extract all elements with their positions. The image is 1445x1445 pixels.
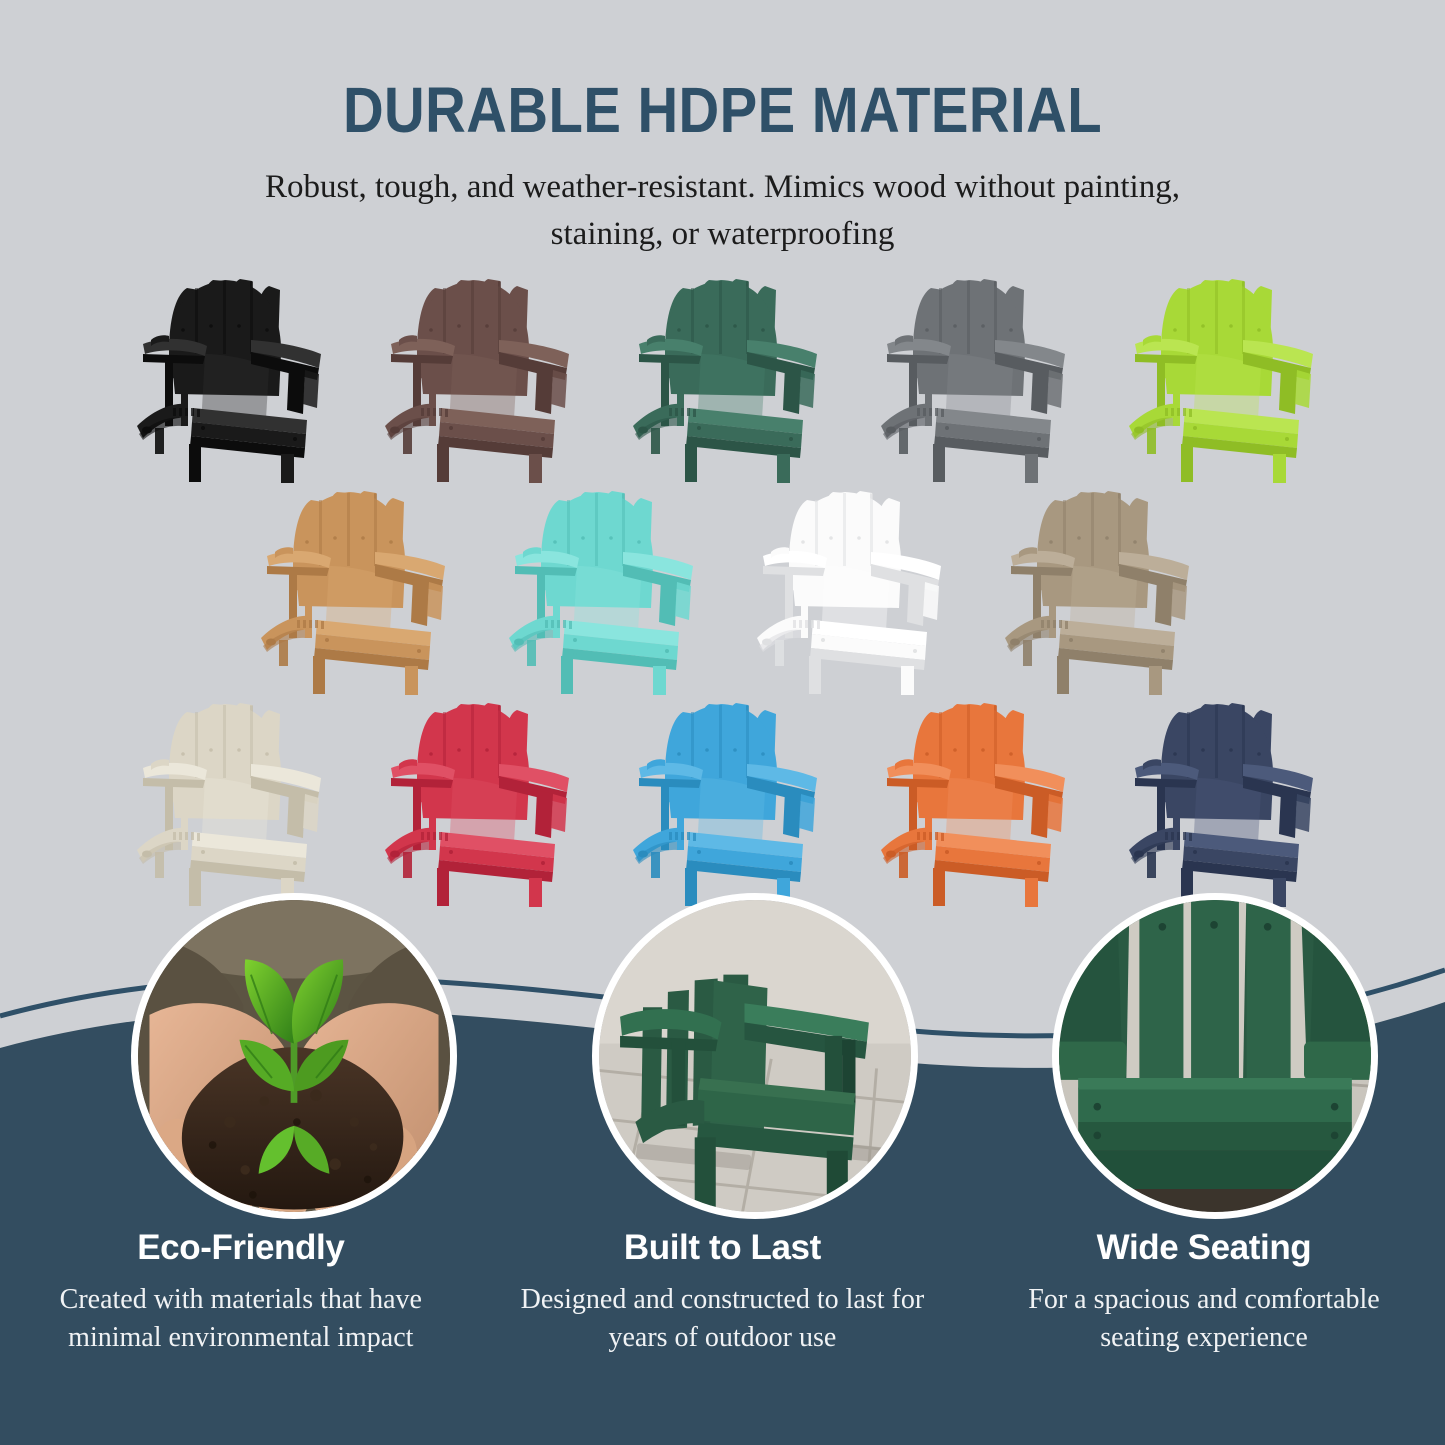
feature-title: Eco-Friendly [26, 1228, 456, 1268]
chair-swatch-brown[interactable] [377, 268, 573, 483]
chair-color-grid [0, 268, 1445, 918]
feature-title: Built to Last [508, 1228, 938, 1268]
feature-title: Wide Seating [989, 1228, 1419, 1268]
chair-swatch-gray[interactable] [873, 268, 1069, 483]
chair-swatch-weathered-wood[interactable] [997, 480, 1193, 695]
feature-description: For a spacious and comfortable seating e… [989, 1281, 1419, 1356]
chair-swatch-black[interactable] [129, 268, 325, 483]
chair-swatch-lime-green[interactable] [1121, 268, 1317, 483]
chair-swatch-turquoise[interactable] [501, 480, 697, 695]
feature-description: Designed and constructed to last for yea… [508, 1281, 938, 1356]
circle-photo-eco-friendly [131, 893, 457, 1219]
chair-swatch-white[interactable] [749, 480, 945, 695]
feature-built-to-last: Built to Last Designed and constructed t… [482, 1228, 964, 1356]
chair-row-3 [0, 692, 1445, 907]
feature-description: Created with materials that have minimal… [26, 1281, 456, 1356]
feature-wide-seating: Wide Seating For a spacious and comforta… [963, 1228, 1445, 1356]
chair-swatch-ivory[interactable] [129, 692, 325, 907]
chair-swatch-teak[interactable] [253, 480, 449, 695]
feature-text-row: Eco-Friendly Created with materials that… [0, 1228, 1445, 1356]
chair-row-2 [0, 480, 1445, 695]
circle-photo-wide-seating [1052, 893, 1378, 1219]
chair-row-1 [0, 268, 1445, 483]
header-section: DURABLE HDPE MATERIAL Robust, tough, and… [0, 0, 1445, 258]
chair-swatch-orange[interactable] [873, 692, 1069, 907]
feature-circles [0, 893, 1445, 1223]
feature-eco-friendly: Eco-Friendly Created with materials that… [0, 1228, 482, 1356]
chair-swatch-sky-blue[interactable] [625, 692, 821, 907]
chair-swatch-navy-blue[interactable] [1121, 692, 1317, 907]
chair-swatch-dark-green[interactable] [625, 268, 821, 483]
page-subtitle: Robust, tough, and weather-resistant. Mi… [0, 164, 1445, 258]
chair-swatch-red[interactable] [377, 692, 573, 907]
page-title: DURABLE HDPE MATERIAL [87, 78, 1359, 142]
circle-photo-built-to-last [592, 893, 918, 1219]
